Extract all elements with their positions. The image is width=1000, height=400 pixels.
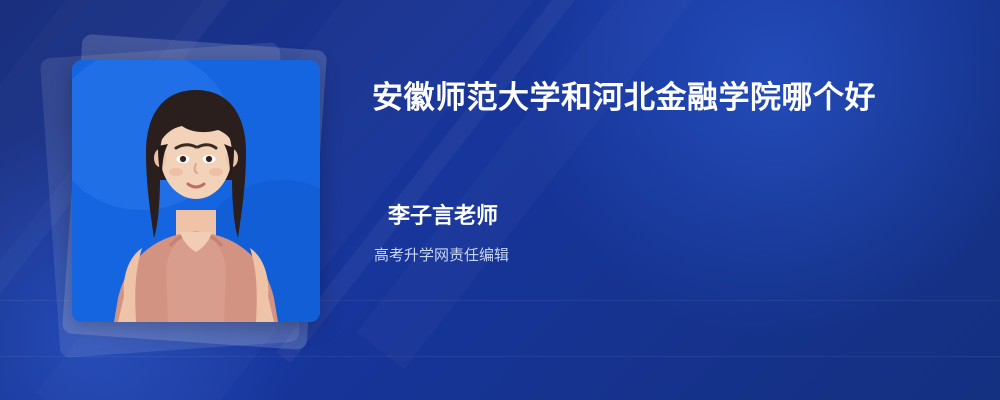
article-text-block: 安徽师范大学和河北金融学院哪个好 李子言老师 高考升学网责任编辑 <box>372 72 952 265</box>
author-name: 李子言老师 <box>372 198 952 230</box>
page-title: 安徽师范大学和河北金融学院哪个好 <box>372 72 932 124</box>
photo-card-stack <box>42 30 342 370</box>
author-byline: 高考升学网责任编辑 <box>372 244 952 265</box>
portrait-illustration <box>72 60 320 322</box>
author-portrait <box>72 60 320 322</box>
